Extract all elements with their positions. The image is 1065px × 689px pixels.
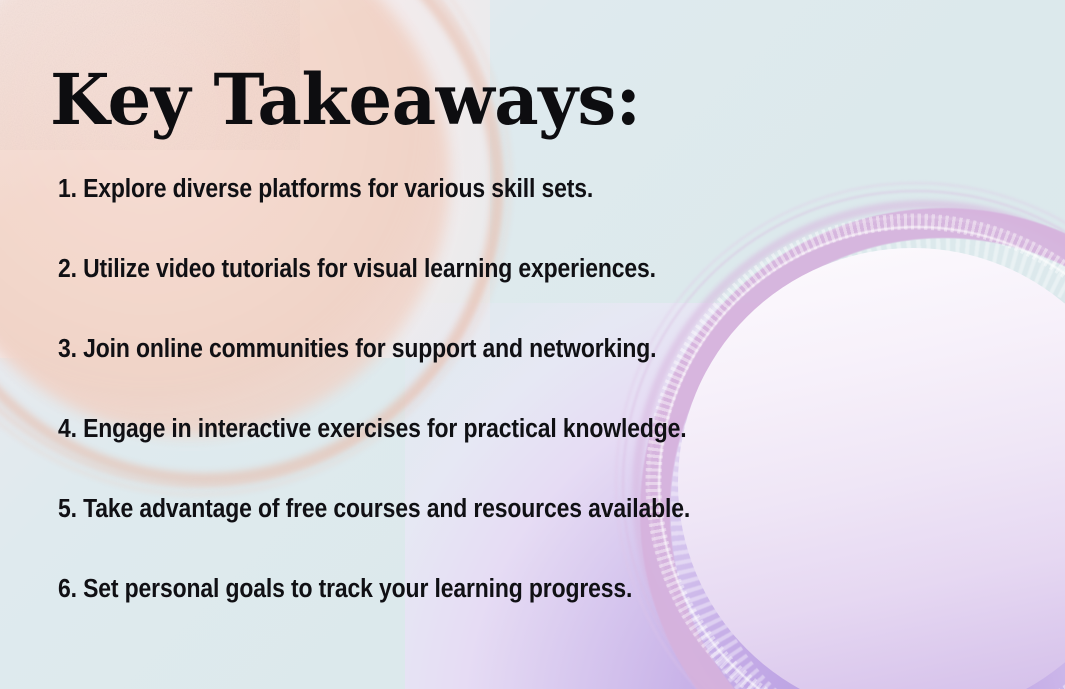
list-item: 6. Set personal goals to track your lear… <box>58 550 904 630</box>
slide-content: Key Takeaways: 1. Explore diverse platfo… <box>0 0 1065 689</box>
list-item: 1. Explore diverse platforms for various… <box>58 150 904 230</box>
list-item: 3. Join online communities for support a… <box>58 310 904 390</box>
list-item: 2. Utilize video tutorials for visual le… <box>58 230 904 310</box>
list-item: 5. Take advantage of free courses and re… <box>58 470 904 550</box>
slide-canvas: Key Takeaways: 1. Explore diverse platfo… <box>0 0 1065 689</box>
list-item: 4. Engage in interactive exercises for p… <box>58 390 904 470</box>
page-title: Key Takeaways: <box>50 63 641 137</box>
takeaways-list: 1. Explore diverse platforms for various… <box>58 150 998 630</box>
